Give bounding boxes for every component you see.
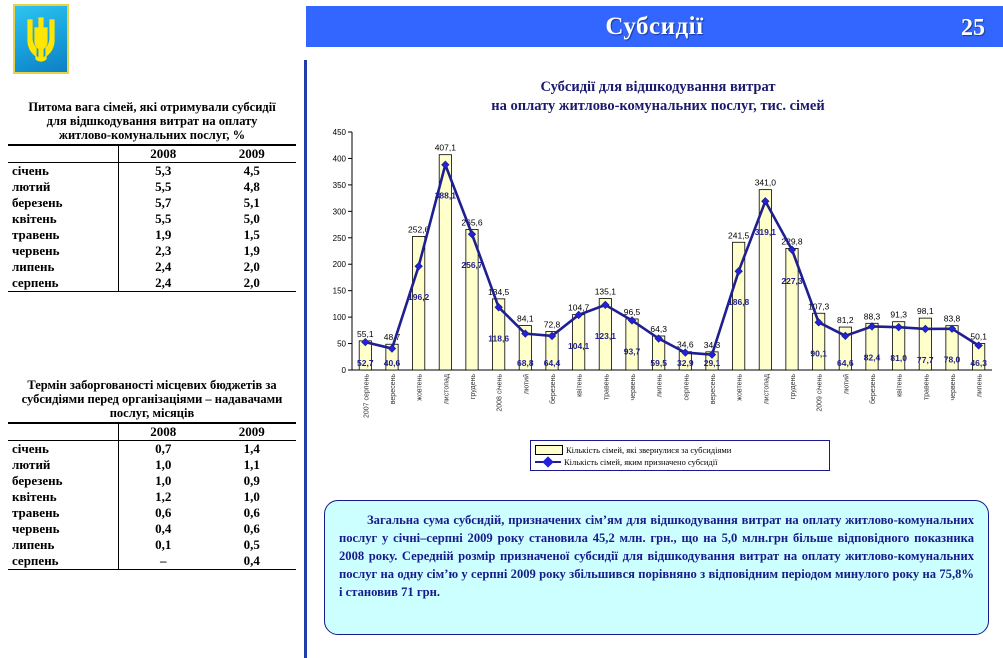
table-row: березень1,00,9 [8,473,296,489]
line-value-label: 388,1 [435,191,457,201]
row-value-2009: 0,9 [207,473,296,489]
table1-title-line1: Питома вага сімей, які отримували субсид… [8,100,296,114]
bar-value-label: 84,1 [517,314,534,324]
y-axis-tick: 450 [333,128,347,137]
line-value-label: 59,5 [650,358,667,368]
table-subsidy-share: Питома вага сімей, які отримували субсид… [8,100,296,292]
row-month: квітень [8,489,118,505]
table-row: травень0,60,6 [8,505,296,521]
table2-header-row: 2008 2009 [8,423,296,441]
table1-title-line3: житлово-комунальних послуг, % [8,128,296,142]
chart-bar [786,248,798,370]
line-value-label: 64,4 [544,358,561,368]
row-value-2008: 1,0 [118,473,207,489]
y-axis-tick: 350 [333,181,347,190]
table-row: червень2,31,9 [8,243,296,259]
x-axis-category-label: квітень [576,374,584,397]
chart-bar [466,230,478,370]
chart-legend: Кількість сімей, які звернулися за субси… [530,440,830,471]
bar-value-label: 407,1 [435,143,457,153]
bar-value-label: 64,3 [650,324,667,334]
y-axis-tick: 50 [337,340,346,349]
y-axis-tick: 250 [333,234,347,243]
chart-title-line1: Субсидії для відшкодування витрат [318,78,998,97]
row-month: березень [8,195,118,211]
x-axis-category-label: травень [923,374,930,400]
line-value-label: 77,7 [917,355,934,365]
row-month: липень [8,259,118,275]
line-value-label: 118,6 [488,333,509,343]
table-row: січень0,71,4 [8,441,296,458]
table1-col-month [8,145,118,163]
x-axis-category-label: серпень [683,374,690,401]
table1-title-line2: для відшкодування витрат на оплату [8,114,296,128]
bar-value-label: 96,5 [624,307,641,317]
table1-col-2008: 2008 [118,145,207,163]
title-band: Субсидії 25 [306,6,1003,47]
y-axis-tick: 200 [333,260,347,269]
legend-bar-swatch-icon [535,445,563,455]
table-row: травень1,91,5 [8,227,296,243]
x-axis-category-label: квітень [896,374,904,397]
row-value-2009: 4,8 [207,179,296,195]
table-row: серпень–0,4 [8,553,296,570]
page-title: Субсидії [605,13,703,41]
legend-bar-label: Кількість сімей, які звернулися за субси… [566,445,731,455]
line-value-label: 186,8 [728,297,750,307]
x-axis-category-label: 2008 січень [496,374,504,412]
row-value-2009: 1,4 [207,441,296,458]
row-month: червень [8,521,118,537]
bar-value-label: 265,6 [461,218,483,228]
bar-value-label: 81,2 [837,315,854,325]
x-axis-category-label: грудень [470,374,477,399]
row-value-2009: 0,6 [207,505,296,521]
bar-value-label: 50,1 [970,332,987,342]
x-axis-category-label: 2009 січень [816,374,824,412]
table2: 2008 2009 січень0,71,4лютий1,01,1березен… [8,422,296,570]
line-value-label: 52,7 [357,358,374,368]
x-axis-category-label: листопад [763,374,770,404]
row-month: березень [8,473,118,489]
table1-title: Питома вага сімей, які отримували субсид… [8,100,296,142]
x-axis-category-label: лютий [522,374,530,394]
line-value-label: 82,4 [864,352,881,362]
table2-title-line1: Термін заборгованості місцевих бюджетів … [8,378,296,392]
row-value-2009: 0,4 [207,553,296,570]
row-value-2008: 1,0 [118,457,207,473]
line-value-label: 46,3 [970,358,987,368]
row-value-2009: 1,1 [207,457,296,473]
legend-line-swatch-icon [535,458,561,466]
row-value-2009: 1,5 [207,227,296,243]
header-bar: Субсидії 25 [0,0,1003,52]
row-value-2008: 2,4 [118,275,207,292]
line-value-label: 90,1 [810,348,827,358]
y-axis-tick: 400 [333,154,347,163]
row-month: лютий [8,179,118,195]
table-row: лютий1,01,1 [8,457,296,473]
table-row: лютий5,54,8 [8,179,296,195]
chart-line [365,165,978,355]
line-value-label: 196,2 [408,292,430,302]
table2-col-2009: 2009 [207,423,296,441]
column-divider [304,60,307,658]
row-value-2008: 0,7 [118,441,207,458]
chart-plot: 05010015020025030035040045055,148,7252,6… [318,122,998,432]
row-month: січень [8,163,118,180]
x-axis-category-label: березень [549,374,557,404]
line-value-label: 32,9 [677,358,694,368]
bar-value-label: 72,8 [544,319,561,329]
x-axis-category-label: червень [950,374,957,401]
row-value-2009: 1,0 [207,489,296,505]
row-value-2009: 4,5 [207,163,296,180]
chart-bar [439,155,451,370]
row-month: січень [8,441,118,458]
chart-svg: 05010015020025030035040045055,148,7252,6… [318,122,998,432]
table-row: квітень5,55,0 [8,211,296,227]
row-value-2008: 5,5 [118,211,207,227]
page-number: 25 [961,15,985,42]
x-axis-category-label: листопад [443,374,450,404]
row-month: квітень [8,211,118,227]
table2-title: Термін заборгованості місцевих бюджетів … [8,378,296,420]
table-row: березень5,75,1 [8,195,296,211]
x-axis-category-label: липень [657,374,664,398]
row-value-2008: 0,1 [118,537,207,553]
row-value-2009: 2,0 [207,275,296,292]
table-row: квітень1,21,0 [8,489,296,505]
x-axis-category-label: жовтень [737,374,744,401]
x-axis-category-label: жовтень [417,374,424,401]
line-value-label: 78,0 [944,355,961,365]
row-value-2009: 0,5 [207,537,296,553]
row-month: лютий [8,457,118,473]
line-value-label: 93,7 [624,346,641,356]
table1: 2008 2009 січень5,34,5лютий5,54,8березен… [8,144,296,292]
row-month: серпень [8,275,118,292]
row-value-2009: 0,6 [207,521,296,537]
y-axis-tick: 0 [342,366,347,375]
table-row: липень2,42,0 [8,259,296,275]
row-value-2008: 0,6 [118,505,207,521]
line-value-label: 81,0 [890,353,907,363]
row-month: серпень [8,553,118,570]
row-value-2008: – [118,553,207,570]
chart-bar [759,190,771,370]
chart-title: Субсидії для відшкодування витрат на опл… [318,62,998,116]
table1-header-row: 2008 2009 [8,145,296,163]
x-axis-category-label: березень [869,374,877,404]
bar-value-label: 135,1 [595,287,617,297]
x-axis-category-label: 2007 серпень [363,374,370,418]
row-value-2008: 5,5 [118,179,207,195]
line-value-label: 319,1 [755,227,777,237]
table2-title-line2: субсидіями перед організаціями – надавач… [8,392,296,406]
chart-bar [413,236,425,370]
bar-value-label: 83,8 [944,314,961,324]
bar-value-label: 34,3 [704,340,721,350]
line-value-label: 104,1 [568,341,590,351]
row-value-2008: 2,4 [118,259,207,275]
row-value-2009: 1,9 [207,243,296,259]
chart-bar [626,319,638,370]
summary-note-box: Загальна сума субсидій, призначених сім’… [324,500,989,635]
bar-value-label: 241,5 [728,230,750,240]
y-axis-tick: 150 [333,287,347,296]
x-axis-category-label: вересень [390,374,397,405]
table-row: січень5,34,5 [8,163,296,180]
table-row: червень0,40,6 [8,521,296,537]
table2-title-line3: послуг, місяців [8,406,296,420]
row-month: червень [8,243,118,259]
x-axis-category-label: травень [603,374,610,400]
line-value-label: 227,3 [781,276,803,286]
legend-line-label: Кількість сімей, яким призначено субсиді… [564,457,717,467]
x-axis-category-label: червень [630,374,637,401]
row-value-2009: 5,0 [207,211,296,227]
table-row: липень0,10,5 [8,537,296,553]
row-value-2009: 2,0 [207,259,296,275]
y-axis-tick: 300 [333,207,347,216]
row-month: липень [8,537,118,553]
line-value-label: 256,7 [461,260,483,270]
row-value-2009: 5,1 [207,195,296,211]
row-value-2008: 2,3 [118,243,207,259]
bar-value-label: 341,0 [755,178,777,188]
row-value-2008: 0,4 [118,521,207,537]
table2-col-month [8,423,118,441]
x-axis-category-label: лютий [842,374,850,394]
line-value-label: 68,8 [517,358,534,368]
x-axis-category-label: вересень [710,374,717,405]
summary-note-text: Загальна сума субсидій, призначених сім’… [339,511,974,601]
line-value-label: 29,1 [704,358,721,368]
x-axis-category-label: липень [977,374,984,398]
chart-title-line2: на оплату житлово-комунальних послуг, ти… [318,97,998,116]
row-month: травень [8,227,118,243]
row-month: травень [8,505,118,521]
bar-value-label: 55,1 [357,329,374,339]
bar-value-label: 98,1 [917,306,934,316]
line-value-label: 64,6 [837,358,854,368]
table-debt-term: Термін заборгованості місцевих бюджетів … [8,378,296,570]
chart-container: Субсидії для відшкодування витрат на опл… [318,62,998,482]
line-value-label: 123,1 [595,331,617,341]
legend-item-bars: Кількість сімей, які звернулися за субси… [535,444,825,455]
row-value-2008: 1,9 [118,227,207,243]
ukraine-trident-emblem [13,4,69,74]
row-value-2008: 5,7 [118,195,207,211]
row-value-2008: 1,2 [118,489,207,505]
legend-item-line: Кількість сімей, яким призначено субсиді… [535,456,825,467]
line-value-label: 40,6 [384,358,401,368]
bar-value-label: 91,3 [890,310,907,320]
x-axis-category-label: грудень [790,374,797,399]
row-value-2008: 5,3 [118,163,207,180]
y-axis-tick: 100 [333,313,347,322]
bar-value-label: 88,3 [864,311,881,321]
table2-col-2008: 2008 [118,423,207,441]
table1-col-2009: 2009 [207,145,296,163]
table-row: серпень2,42,0 [8,275,296,292]
